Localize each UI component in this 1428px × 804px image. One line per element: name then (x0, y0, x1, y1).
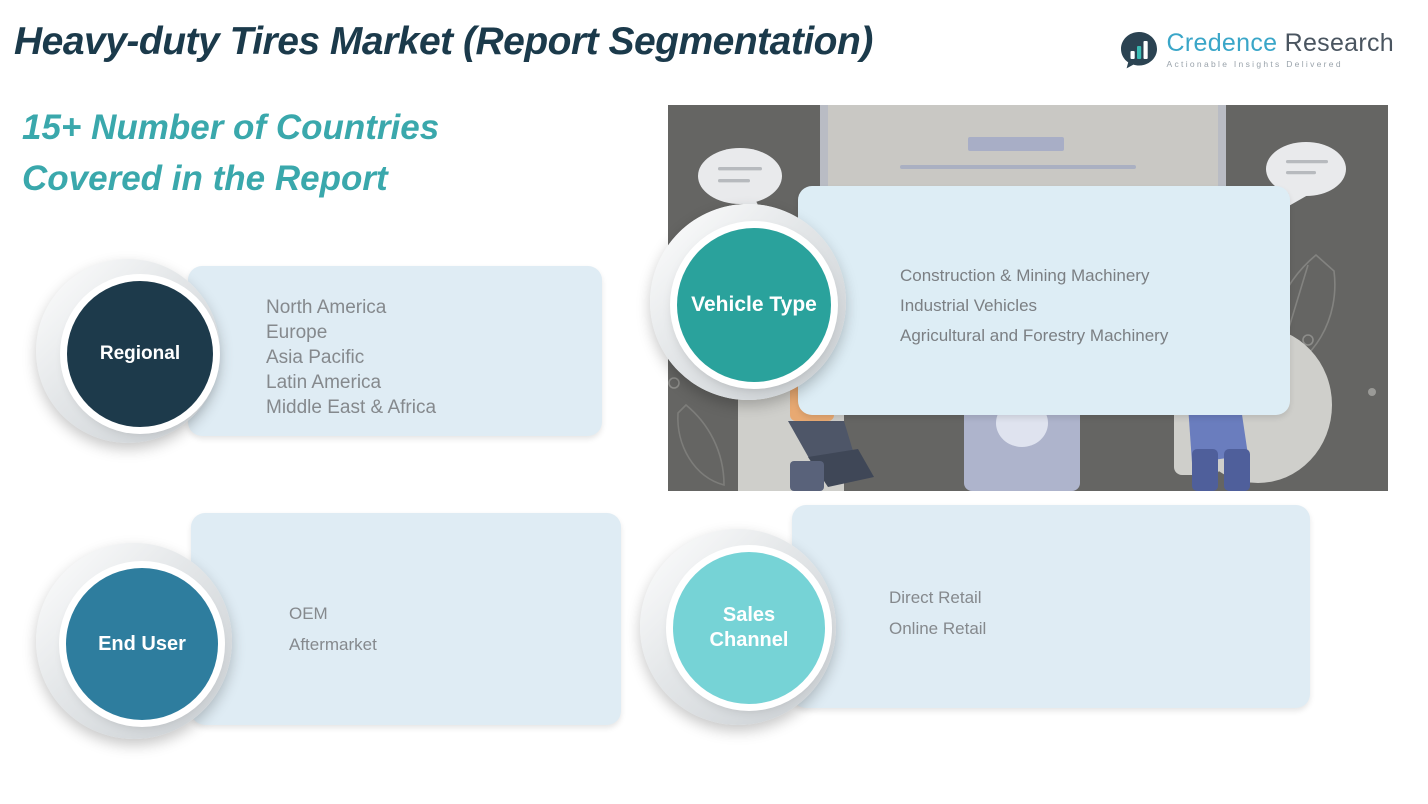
list-item: Agricultural and Forestry Machinery (900, 321, 1168, 351)
segment-card-regional: Regional North America Europe Asia Pacif… (36, 243, 576, 458)
logo-name-part2: Research (1285, 29, 1394, 57)
list-item: Direct Retail (889, 582, 986, 613)
segment-label-end-user: End User (98, 633, 186, 656)
segment-items-end-user: OEM Aftermarket (289, 598, 377, 660)
logo-text: Credence Research Actionable Insights De… (1167, 31, 1394, 69)
segment-card-sales-channel: SalesChannel Direct Retail Online Retail (640, 497, 1320, 722)
list-item: OEM (289, 598, 377, 629)
list-item: Construction & Mining Machinery (900, 261, 1168, 291)
segment-circle-regional[interactable]: Regional (67, 281, 213, 427)
list-item: Asia Pacific (266, 345, 436, 370)
segment-circle-end-user[interactable]: End User (66, 568, 218, 720)
list-item: Middle East & Africa (266, 395, 436, 420)
logo-name-part1: Credence (1167, 29, 1278, 57)
list-item: North America (266, 295, 436, 320)
segment-card-vehicle-type: Vehicle Type Construction & Mining Machi… (650, 186, 1310, 416)
list-item: Europe (266, 320, 436, 345)
segment-circle-vehicle-type[interactable]: Vehicle Type (677, 228, 831, 382)
subtitle: 15+ Number of Countries Covered in the R… (22, 103, 542, 205)
segment-items-vehicle-type: Construction & Mining Machinery Industri… (900, 261, 1168, 351)
segment-panel (191, 513, 621, 725)
segment-circle-sales-channel[interactable]: SalesChannel (673, 552, 825, 704)
segment-card-end-user: End User OEM Aftermarket (36, 505, 591, 727)
page-title: Heavy-duty Tires Market (Report Segmenta… (14, 20, 873, 64)
segment-items-sales-channel: Direct Retail Online Retail (889, 582, 986, 644)
segment-label-line1: Sales (723, 604, 775, 626)
bar-chart-speech-bubble-icon (1119, 30, 1159, 70)
list-item: Industrial Vehicles (900, 291, 1168, 321)
segment-label-sales-channel: SalesChannel (710, 603, 789, 653)
segment-items-regional: North America Europe Asia Pacific Latin … (266, 295, 436, 420)
list-item: Aftermarket (289, 629, 377, 660)
logo-tagline: Actionable Insights Delivered (1167, 60, 1394, 69)
segment-label-line2: Channel (710, 629, 789, 651)
list-item: Online Retail (889, 613, 986, 644)
segment-label-regional: Regional (100, 343, 180, 365)
brand-logo: Credence Research Actionable Insights De… (1119, 30, 1394, 70)
logo-name: Credence Research (1167, 31, 1394, 56)
segment-label-vehicle-type: Vehicle Type (691, 293, 817, 317)
list-item: Latin America (266, 370, 436, 395)
segment-panel (792, 505, 1310, 708)
